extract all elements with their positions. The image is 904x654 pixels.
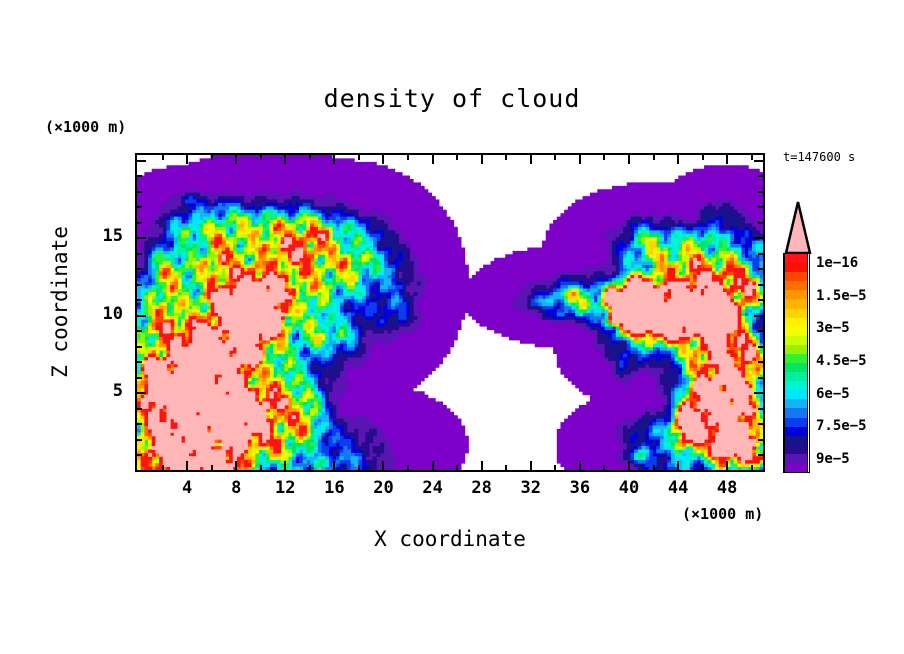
axis-tick: [407, 465, 409, 470]
axis-tick: [726, 155, 728, 164]
axis-tick: [758, 361, 763, 363]
axis-tick: [754, 392, 763, 394]
axis-tick: [677, 155, 679, 164]
colorbar-tick-label: 4.5e−5: [816, 353, 867, 369]
colorbar-band: [784, 463, 808, 473]
x-tick-label: 12: [265, 478, 305, 498]
axis-tick: [333, 461, 335, 470]
axis-tick: [754, 237, 763, 239]
y-tick-label: 5: [83, 381, 123, 401]
x-tick-label: 24: [413, 478, 453, 498]
axis-tick: [751, 465, 753, 470]
axis-tick: [754, 160, 763, 162]
axis-tick: [162, 155, 164, 160]
axis-tick: [186, 461, 188, 470]
axis-tick: [653, 155, 655, 160]
axis-tick: [554, 465, 556, 470]
axis-tick: [137, 423, 142, 425]
axis-tick: [505, 465, 507, 470]
y-tick-label: 15: [83, 226, 123, 246]
axis-tick: [628, 155, 630, 164]
x-tick-label: 36: [560, 478, 600, 498]
axis-tick: [505, 155, 507, 160]
axis-tick: [702, 465, 704, 470]
colorbar-tick-label: 3e−5: [816, 320, 850, 336]
colorbar-tick-label: 7.5e−5: [816, 418, 867, 434]
axis-tick: [137, 346, 142, 348]
axis-tick: [653, 465, 655, 470]
cloud-density-field: [137, 155, 763, 470]
axis-tick: [309, 155, 311, 160]
axis-tick: [137, 315, 146, 317]
axis-tick: [137, 191, 142, 193]
x-axis-unit-label: (×1000 m): [682, 505, 763, 523]
contour-plot-area[interactable]: [135, 153, 765, 472]
axis-tick: [758, 175, 763, 177]
axis-tick: [260, 155, 262, 160]
colorbar-tick-label: 6e−5: [816, 386, 850, 402]
axis-tick: [260, 465, 262, 470]
axis-tick: [702, 155, 704, 160]
x-tick-label: 32: [511, 478, 551, 498]
axis-tick: [758, 268, 763, 270]
axis-tick: [407, 155, 409, 160]
axis-tick: [758, 284, 763, 286]
colorbar-overflow-arrow: [784, 200, 816, 254]
x-tick-label: 28: [462, 478, 502, 498]
axis-tick: [162, 465, 164, 470]
x-tick-label: 48: [707, 478, 747, 498]
axis-tick: [235, 155, 237, 164]
axis-tick: [758, 253, 763, 255]
axis-tick: [456, 155, 458, 160]
axis-tick: [758, 423, 763, 425]
axis-tick: [137, 408, 142, 410]
colorbar-tick-label: 9e−5: [816, 451, 850, 467]
axis-tick: [751, 155, 753, 160]
axis-tick: [137, 253, 142, 255]
axis-tick: [603, 465, 605, 470]
axis-tick: [211, 465, 213, 470]
axis-tick: [137, 454, 142, 456]
axis-tick: [382, 155, 384, 164]
y-tick-label: 10: [83, 304, 123, 324]
z-axis-unit-label: (×1000 m): [45, 118, 126, 136]
axis-tick: [530, 461, 532, 470]
x-tick-label: 40: [609, 478, 649, 498]
y-axis-title: Z coordinate: [48, 202, 72, 402]
axis-tick: [432, 155, 434, 164]
axis-tick: [758, 299, 763, 301]
axis-tick: [758, 377, 763, 379]
axis-tick: [754, 315, 763, 317]
axis-tick: [677, 461, 679, 470]
axis-tick: [481, 461, 483, 470]
axis-tick: [284, 461, 286, 470]
axis-tick: [758, 222, 763, 224]
time-annotation: t=147600 s: [783, 150, 855, 164]
axis-tick: [758, 346, 763, 348]
axis-tick: [137, 284, 142, 286]
axis-tick: [137, 299, 142, 301]
axis-tick: [579, 461, 581, 470]
colorbar-tick-label: 1.5e−5: [816, 288, 867, 304]
axis-tick: [530, 155, 532, 164]
axis-tick: [137, 439, 142, 441]
x-tick-label: 20: [363, 478, 403, 498]
axis-tick: [758, 191, 763, 193]
axis-tick: [137, 222, 142, 224]
x-tick-label: 16: [314, 478, 354, 498]
page-title: density of cloud: [0, 84, 904, 113]
axis-tick: [333, 155, 335, 164]
axis-tick: [284, 155, 286, 164]
axis-tick: [137, 392, 146, 394]
axis-tick: [758, 206, 763, 208]
axis-tick: [137, 361, 142, 363]
axis-tick: [382, 461, 384, 470]
axis-tick: [579, 155, 581, 164]
axis-tick: [358, 465, 360, 470]
axis-tick: [481, 155, 483, 164]
colorbar[interactable]: 9e−57.5e−56e−54.5e−53e−51.5e−51e−16: [780, 200, 820, 475]
axis-tick: [235, 461, 237, 470]
axis-tick: [358, 155, 360, 160]
axis-tick: [758, 454, 763, 456]
axis-tick: [432, 461, 434, 470]
axis-tick: [603, 155, 605, 160]
axis-tick: [554, 155, 556, 160]
axis-tick: [758, 439, 763, 441]
x-tick-label: 44: [658, 478, 698, 498]
axis-tick: [137, 175, 142, 177]
x-tick-label: 4: [167, 478, 207, 498]
x-axis-title: X coordinate: [250, 527, 650, 551]
axis-tick: [137, 268, 142, 270]
axis-tick: [137, 377, 142, 379]
axis-tick: [137, 206, 142, 208]
colorbar-tick-label: 1e−16: [816, 255, 858, 271]
axis-tick: [137, 330, 142, 332]
axis-tick: [726, 461, 728, 470]
axis-tick: [758, 408, 763, 410]
axis-tick: [309, 465, 311, 470]
axis-tick: [758, 330, 763, 332]
axis-tick: [137, 237, 146, 239]
axis-tick: [628, 461, 630, 470]
axis-tick: [456, 465, 458, 470]
axis-tick: [137, 160, 146, 162]
axis-tick: [186, 155, 188, 164]
axis-tick: [211, 155, 213, 160]
x-tick-label: 8: [216, 478, 256, 498]
